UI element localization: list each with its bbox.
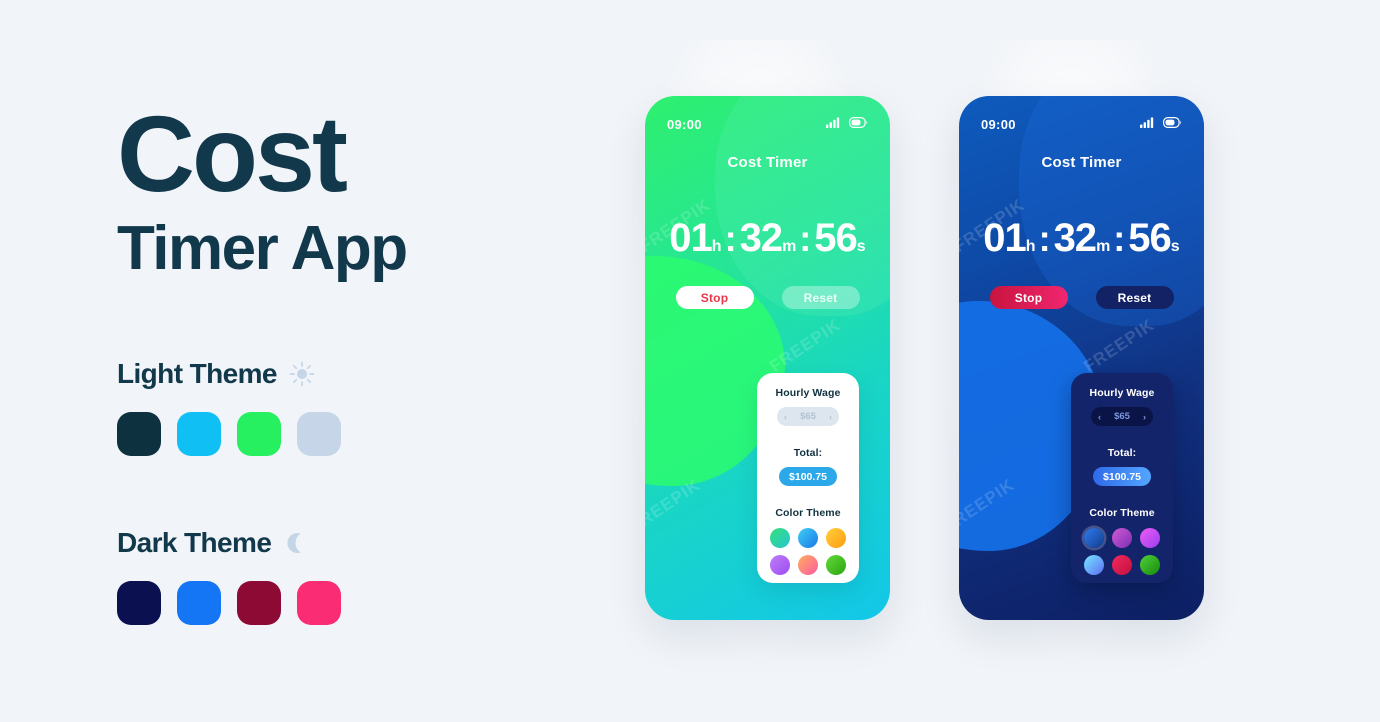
color-theme-options bbox=[1083, 528, 1161, 575]
timer-separator: : bbox=[722, 218, 740, 259]
stop-button[interactable]: Stop bbox=[676, 286, 754, 309]
color-option[interactable] bbox=[1112, 528, 1132, 548]
title-sub: Timer App bbox=[117, 216, 407, 281]
reset-button[interactable]: Reset bbox=[1096, 286, 1174, 309]
total-label: Total: bbox=[757, 447, 859, 459]
timer-controls: Stop Reset bbox=[645, 286, 890, 309]
timer-hours: 01 bbox=[669, 216, 712, 260]
total-value-badge[interactable]: $100.75 bbox=[1093, 467, 1151, 486]
timer-controls: Stop Reset bbox=[959, 286, 1204, 309]
battery-icon bbox=[1163, 115, 1182, 133]
timer-separator: : bbox=[1110, 218, 1128, 259]
status-bar: 09:00 bbox=[645, 114, 890, 134]
timer-seconds: 56 bbox=[814, 216, 857, 260]
light-theme-section: Light Theme bbox=[117, 358, 341, 456]
hourly-wage-value: $65 bbox=[800, 411, 816, 422]
timer-hours-unit: h bbox=[712, 238, 722, 255]
screen-content-dark: 09:00 bbox=[959, 96, 1204, 620]
dark-theme-header: Dark Theme bbox=[117, 527, 341, 559]
color-option[interactable] bbox=[770, 555, 790, 575]
intro-panel: Cost Timer App Light Theme bbox=[0, 0, 600, 722]
phone-mockups: FREEPIK FREEPIK FREEPIK 09:00 bbox=[620, 40, 1280, 680]
app-title: Cost Timer bbox=[645, 154, 890, 171]
light-theme-label: Light Theme bbox=[117, 358, 277, 390]
signal-bars-icon bbox=[826, 115, 840, 133]
timer-hours-unit: h bbox=[1026, 238, 1036, 255]
title-main: Cost bbox=[117, 100, 407, 208]
timer-minutes: 32 bbox=[740, 216, 783, 260]
status-icons bbox=[1140, 115, 1182, 133]
timer-minutes-unit: m bbox=[782, 238, 796, 255]
chevron-left-icon[interactable]: ‹ bbox=[1098, 412, 1101, 422]
light-theme-header: Light Theme bbox=[117, 358, 341, 390]
hourly-wage-label: Hourly Wage bbox=[757, 387, 859, 399]
hourly-wage-stepper[interactable]: ‹ $65 › bbox=[1091, 407, 1153, 426]
dark-theme-swatches bbox=[117, 581, 341, 625]
app-title: Cost Timer bbox=[959, 154, 1204, 171]
phone-screen-dark: FREEPIK FREEPIK FREEPIK 09:00 bbox=[959, 96, 1204, 620]
total-label: Total: bbox=[1071, 447, 1173, 459]
hourly-wage-label: Hourly Wage bbox=[1071, 387, 1173, 399]
sun-icon bbox=[289, 361, 315, 387]
phone-screen-light: FREEPIK FREEPIK FREEPIK 09:00 bbox=[645, 96, 890, 620]
swatch-dark-1[interactable] bbox=[117, 581, 161, 625]
timer-separator: : bbox=[796, 218, 814, 259]
timer-minutes: 32 bbox=[1054, 216, 1097, 260]
timer-separator: : bbox=[1036, 218, 1054, 259]
swatch-dark-3[interactable] bbox=[237, 581, 281, 625]
color-option[interactable] bbox=[798, 528, 818, 548]
color-option[interactable] bbox=[826, 528, 846, 548]
settings-card: Hourly Wage ‹ $65 › Total: $100.75 Color… bbox=[757, 373, 859, 583]
hourly-wage-stepper[interactable]: ‹ $65 › bbox=[777, 407, 839, 426]
swatch-light-3[interactable] bbox=[237, 412, 281, 456]
color-theme-label: Color Theme bbox=[1071, 507, 1173, 519]
color-option[interactable] bbox=[1112, 555, 1132, 575]
color-option[interactable] bbox=[770, 528, 790, 548]
timer-seconds-unit: s bbox=[1171, 238, 1180, 255]
chevron-right-icon[interactable]: › bbox=[1143, 412, 1146, 422]
status-time: 09:00 bbox=[667, 117, 702, 132]
total-value-badge[interactable]: $100.75 bbox=[779, 467, 837, 486]
color-theme-label: Color Theme bbox=[757, 507, 859, 519]
swatch-dark-2[interactable] bbox=[177, 581, 221, 625]
status-icons bbox=[826, 115, 868, 133]
timer-minutes-unit: m bbox=[1096, 238, 1110, 255]
settings-card: Hourly Wage ‹ $65 › Total: $100.75 Color… bbox=[1071, 373, 1173, 583]
swatch-light-2[interactable] bbox=[177, 412, 221, 456]
color-option[interactable] bbox=[1084, 555, 1104, 575]
timer-seconds-unit: s bbox=[857, 238, 866, 255]
page-title: Cost Timer App bbox=[117, 100, 407, 281]
timer-hours: 01 bbox=[983, 216, 1026, 260]
color-option[interactable] bbox=[798, 555, 818, 575]
hourly-wage-value: $65 bbox=[1114, 411, 1130, 422]
stop-button[interactable]: Stop bbox=[990, 286, 1068, 309]
dark-theme-label: Dark Theme bbox=[117, 527, 271, 559]
color-option[interactable] bbox=[1140, 528, 1160, 548]
page-root: Cost Timer App Light Theme bbox=[0, 0, 1380, 722]
timer-seconds: 56 bbox=[1128, 216, 1171, 260]
moon-icon bbox=[283, 530, 309, 556]
battery-icon bbox=[849, 115, 868, 133]
reset-button[interactable]: Reset bbox=[782, 286, 860, 309]
dark-theme-section: Dark Theme bbox=[117, 527, 341, 625]
status-time: 09:00 bbox=[981, 117, 1016, 132]
screen-content-light: 09:00 bbox=[645, 96, 890, 620]
color-option[interactable] bbox=[826, 555, 846, 575]
color-option[interactable] bbox=[1140, 555, 1160, 575]
light-theme-swatches bbox=[117, 412, 341, 456]
color-theme-options bbox=[769, 528, 847, 575]
swatch-light-4[interactable] bbox=[297, 412, 341, 456]
signal-bars-icon bbox=[1140, 115, 1154, 133]
chevron-right-icon[interactable]: › bbox=[829, 412, 832, 422]
timer-display: 01h:32m:56s bbox=[645, 216, 890, 261]
swatch-dark-4[interactable] bbox=[297, 581, 341, 625]
swatch-light-1[interactable] bbox=[117, 412, 161, 456]
color-option[interactable] bbox=[1084, 528, 1104, 548]
status-bar: 09:00 bbox=[959, 114, 1204, 134]
timer-display: 01h:32m:56s bbox=[959, 216, 1204, 261]
chevron-left-icon[interactable]: ‹ bbox=[784, 412, 787, 422]
